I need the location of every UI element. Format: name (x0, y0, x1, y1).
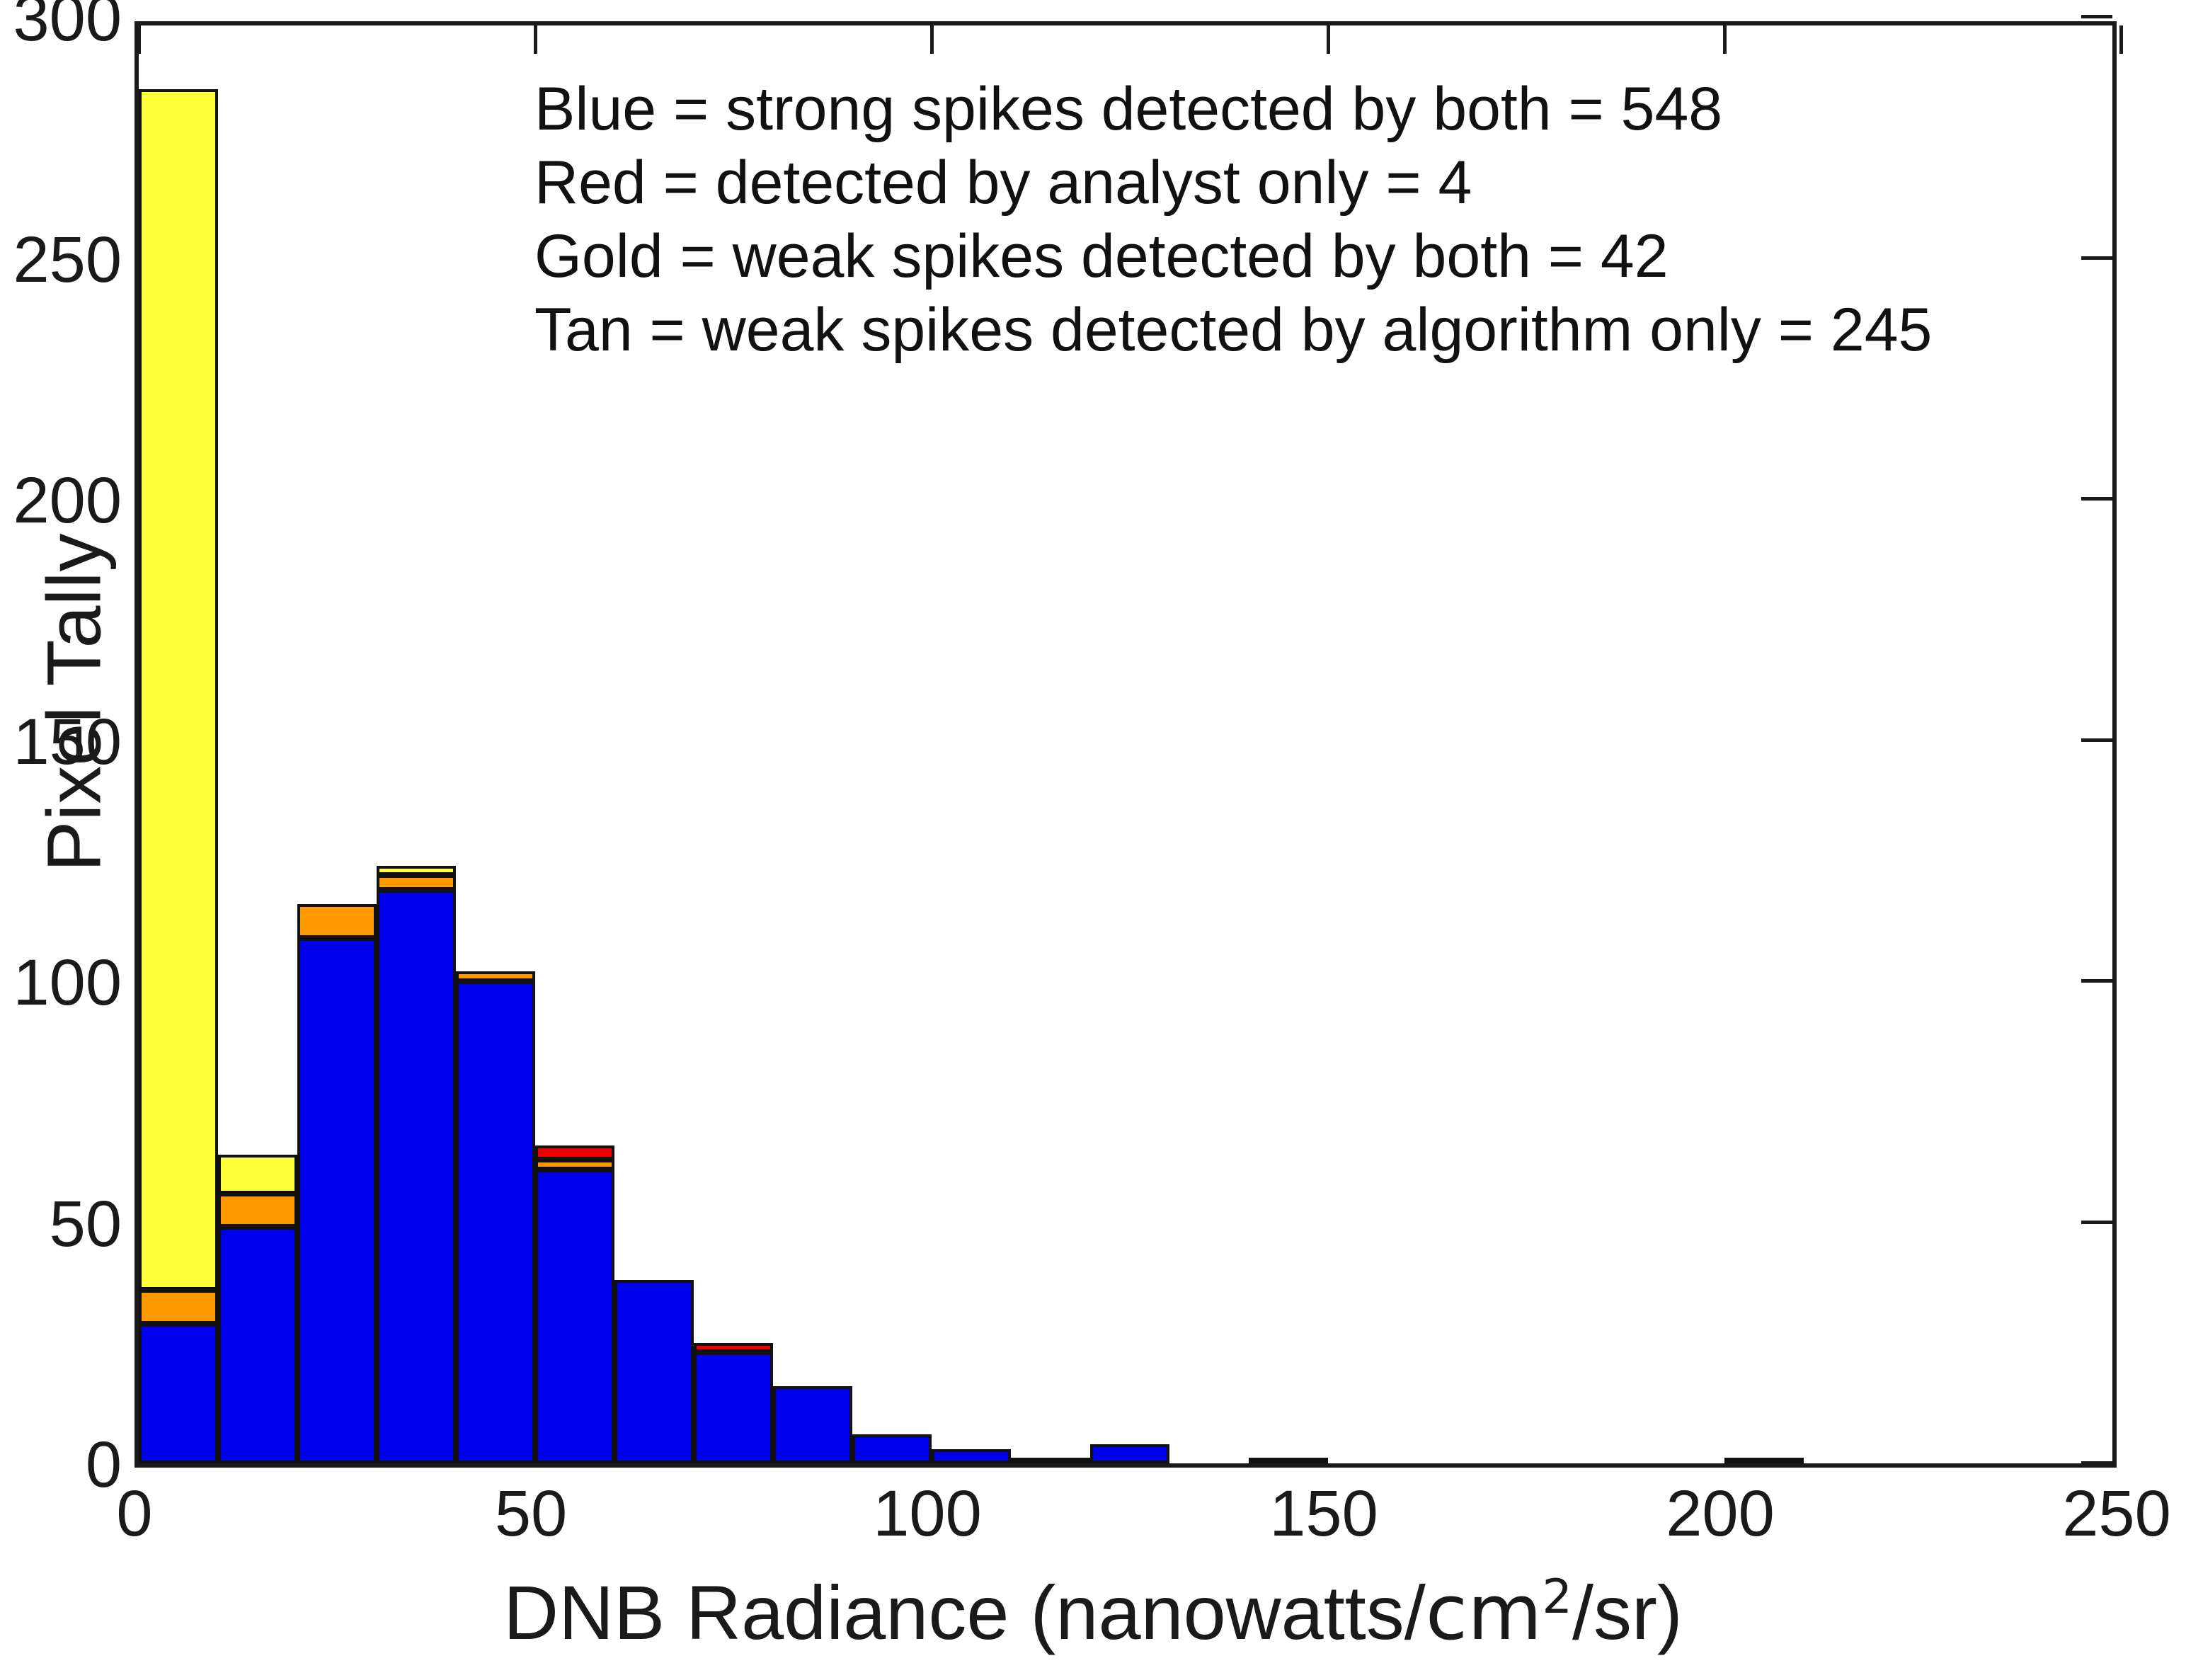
y-axis-tick-label: 300 (0, 0, 122, 51)
bar-segment (456, 971, 535, 981)
histogram-bar (852, 1434, 932, 1463)
y-axis-tick (2081, 1461, 2112, 1465)
y-axis-tick (2081, 256, 2112, 260)
histogram-bar (1011, 1458, 1090, 1463)
x-axis-tick-label: 50 (389, 1481, 673, 1546)
legend-line-blue: Blue = strong spikes detected by both = … (534, 72, 1932, 146)
bar-segment (297, 904, 377, 938)
histogram-bar (535, 1145, 614, 1463)
legend-line-tan: Tan = weak spikes detected by algorithm … (534, 293, 1932, 367)
y-axis-tick-label: 250 (0, 227, 122, 292)
y-axis-tick (2081, 979, 2112, 983)
x-axis-tick (1723, 25, 1727, 54)
x-axis-tick (534, 25, 537, 54)
bar-segment (694, 1352, 773, 1463)
y-axis-tick-label: 200 (0, 468, 122, 533)
bar-segment (139, 89, 218, 1290)
bar-segment (1724, 1458, 1804, 1463)
x-axis-tick-label: 100 (786, 1481, 1069, 1546)
histogram-bar (297, 904, 377, 1463)
y-axis-tick (2081, 1221, 2112, 1224)
bar-segment (614, 1280, 694, 1463)
y-axis-tick (2081, 15, 2112, 18)
y-axis-tick (2081, 497, 2112, 501)
histogram-bar (1090, 1444, 1169, 1463)
histogram-bar (139, 89, 218, 1463)
bar-segment (535, 1145, 614, 1160)
bar-segment (1090, 1444, 1169, 1463)
x-axis-label-post: /sr) (1572, 1570, 1683, 1655)
histogram-bar (377, 866, 456, 1463)
histogram-bar (773, 1386, 852, 1463)
histogram-bar (694, 1343, 773, 1463)
bar-segment (377, 890, 456, 1463)
bar-segment (218, 1194, 297, 1228)
x-axis-tick (1327, 25, 1330, 54)
legend-line-gold: Gold = weak spikes detected by both = 42 (534, 219, 1932, 293)
x-axis-tick-label: 150 (1182, 1481, 1465, 1546)
y-axis-tick-label: 150 (0, 709, 122, 775)
x-axis-label-exponent: 2 (1542, 1569, 1572, 1624)
x-axis-tick (930, 25, 934, 54)
bar-segment (218, 1155, 297, 1193)
y-axis-tick (2081, 738, 2112, 742)
bar-segment (377, 866, 456, 876)
x-axis-tick-label: 0 (0, 1481, 276, 1546)
x-axis-tick (2119, 25, 2123, 54)
bar-segment (1011, 1458, 1090, 1463)
histogram-figure: Pixel Tally 050100150200250300 050100150… (0, 0, 2186, 1680)
x-axis-tick-label: 200 (1579, 1481, 1862, 1546)
bar-segment (377, 875, 456, 889)
y-axis-tick-label: 50 (0, 1192, 122, 1257)
x-axis-tick-label: 250 (1975, 1481, 2186, 1546)
x-axis-tick (137, 25, 141, 54)
bar-segment (773, 1386, 852, 1463)
bar-segment (535, 1160, 614, 1170)
bar-segment (139, 1290, 218, 1324)
bar-segment (297, 938, 377, 1463)
x-axis-label-pre: DNB Radiance (nanowatts/ (503, 1570, 1426, 1655)
bar-segment (694, 1343, 773, 1353)
bar-segment (1249, 1458, 1328, 1463)
bar-segment (218, 1227, 297, 1463)
y-axis-tick-label: 100 (0, 950, 122, 1015)
histogram-bar (1249, 1458, 1328, 1463)
histogram-bar (456, 971, 535, 1463)
histogram-bar (218, 1155, 297, 1463)
x-axis-label-cm: cm (1426, 1569, 1543, 1657)
legend-line-red: Red = detected by analyst only = 4 (534, 146, 1932, 219)
histogram-bar (1724, 1458, 1804, 1463)
bar-segment (535, 1170, 614, 1463)
bar-segment (852, 1434, 932, 1463)
x-axis-label: DNB Radiance (nanowatts/cm2/sr) (0, 1568, 2186, 1657)
legend-annotation: Blue = strong spikes detected by both = … (534, 72, 1932, 367)
bar-segment (932, 1449, 1011, 1463)
bar-segment (456, 981, 535, 1463)
histogram-bar (614, 1280, 694, 1463)
bar-segment (139, 1324, 218, 1463)
histogram-bar (932, 1449, 1011, 1463)
